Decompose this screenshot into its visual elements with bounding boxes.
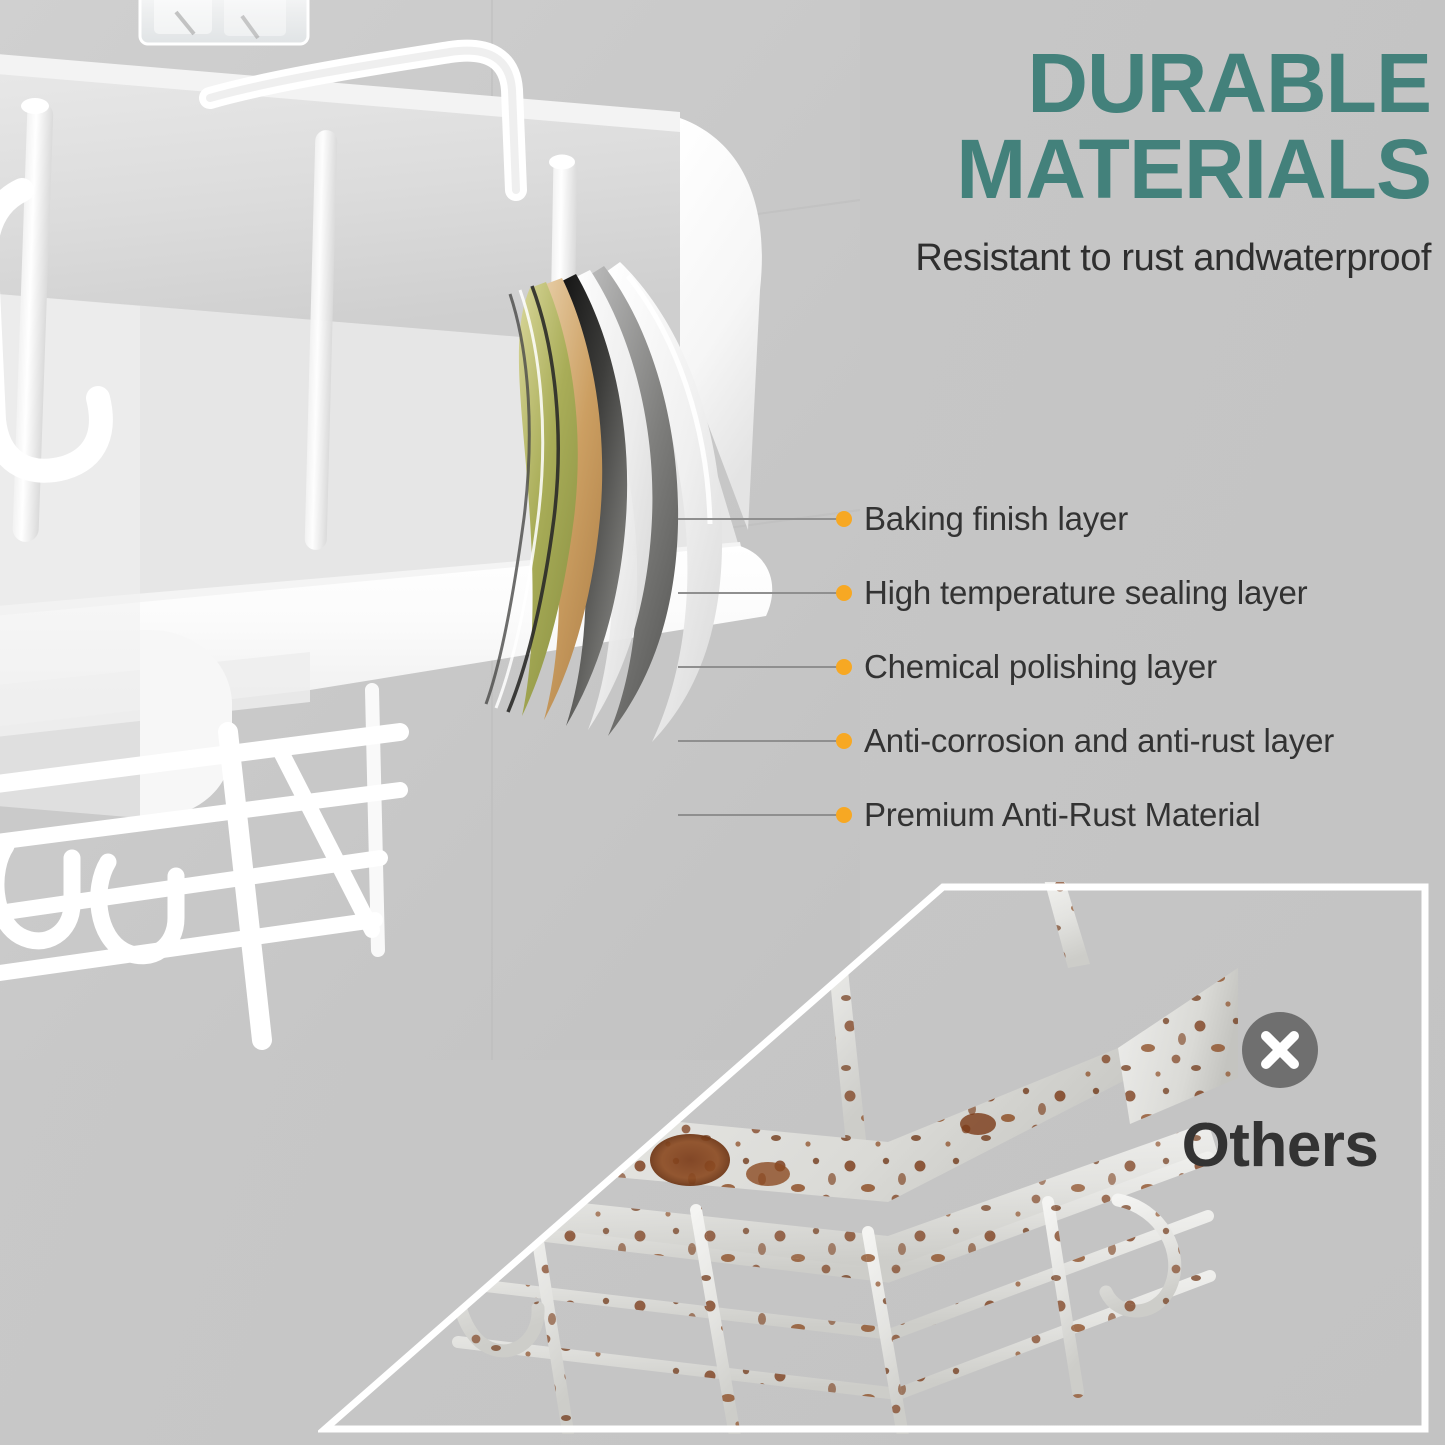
callout-row: High temperature sealing layer xyxy=(678,556,1438,630)
leader-line xyxy=(678,814,844,816)
others-label: Others xyxy=(1150,1110,1410,1181)
coating-layer-callout-list: Baking finish layer High temperature sea… xyxy=(678,482,1438,852)
infographic-canvas: DURABLE MATERIALS Resistant to rust andw… xyxy=(0,0,1445,1445)
bullet-dot-icon xyxy=(836,733,852,749)
callout-row: Premium Anti-Rust Material xyxy=(678,778,1438,852)
leader-line xyxy=(678,666,844,668)
bullet-dot-icon xyxy=(836,585,852,601)
page-title-line-2: MATERIALS xyxy=(691,128,1431,210)
callout-label: Anti-corrosion and anti-rust layer xyxy=(864,722,1334,760)
bullet-dot-icon xyxy=(836,807,852,823)
callout-label: Chemical polishing layer xyxy=(864,648,1217,686)
x-mark-icon xyxy=(1242,1012,1318,1088)
callout-row: Anti-corrosion and anti-rust layer xyxy=(678,704,1438,778)
callout-label: High temperature sealing layer xyxy=(864,574,1307,612)
leader-line xyxy=(678,740,844,742)
callout-label: Baking finish layer xyxy=(864,500,1128,538)
leader-line xyxy=(678,592,844,594)
competitor-product-image xyxy=(418,882,1238,1434)
callout-label: Premium Anti-Rust Material xyxy=(864,796,1260,834)
bullet-dot-icon xyxy=(836,659,852,675)
page-subtitle: Resistant to rust andwaterproof xyxy=(691,237,1431,280)
heading-block: DURABLE MATERIALS Resistant to rust andw… xyxy=(691,42,1431,280)
others-comparison-badge: Others xyxy=(1150,1012,1410,1181)
page-title-line-1: DURABLE xyxy=(691,42,1431,124)
leader-line xyxy=(678,518,844,520)
callout-row: Chemical polishing layer xyxy=(678,630,1438,704)
bullet-dot-icon xyxy=(836,511,852,527)
callout-row: Baking finish layer xyxy=(678,482,1438,556)
